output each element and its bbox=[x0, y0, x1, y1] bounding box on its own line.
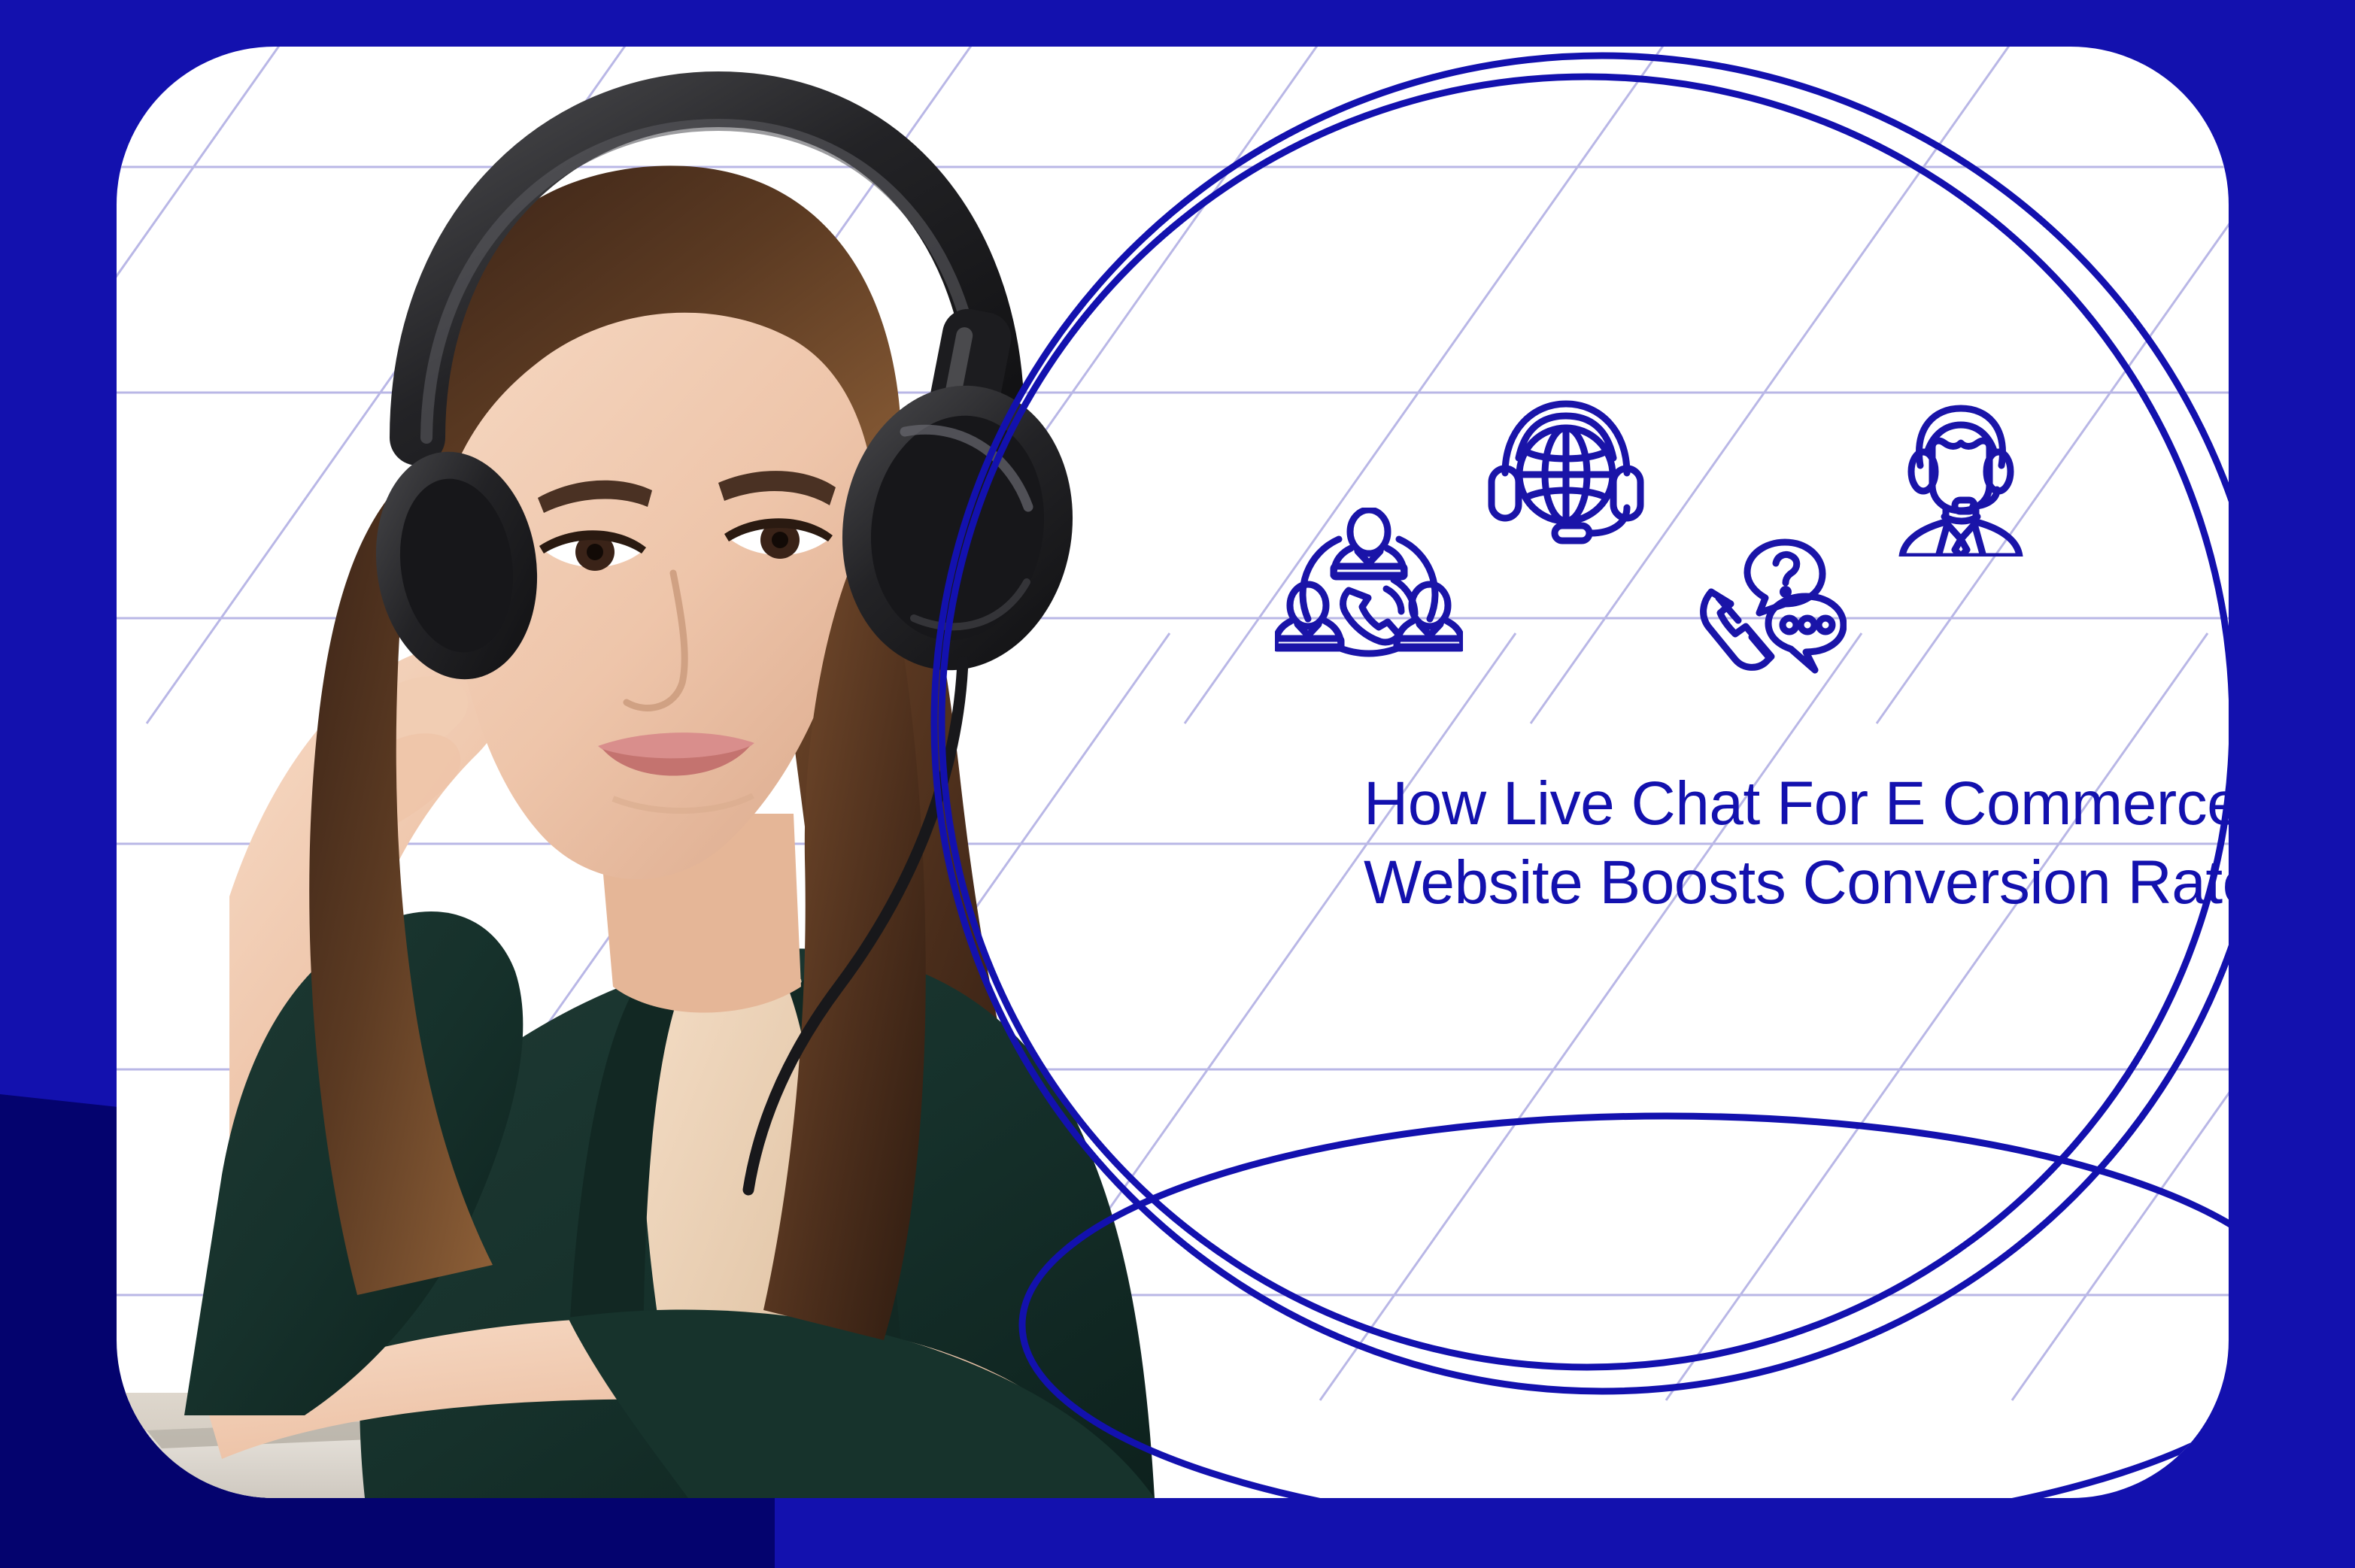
banner-root: How Live Chat For E Commerce Website Boo… bbox=[0, 0, 2355, 1568]
agent-photo bbox=[117, 47, 1222, 1498]
content-card: How Live Chat For E Commerce Website Boo… bbox=[117, 47, 2229, 1498]
agent-photo-illustration bbox=[117, 47, 1222, 1498]
global-headset-support-icon bbox=[1486, 395, 1647, 549]
phone-question-answer-chat-icon bbox=[1696, 538, 1847, 684]
support-agent-avatar-icon bbox=[1892, 402, 2031, 560]
page-title: How Live Chat For E Commerce Website Boo… bbox=[1364, 765, 2229, 923]
team-conference-call-icon bbox=[1275, 508, 1463, 662]
